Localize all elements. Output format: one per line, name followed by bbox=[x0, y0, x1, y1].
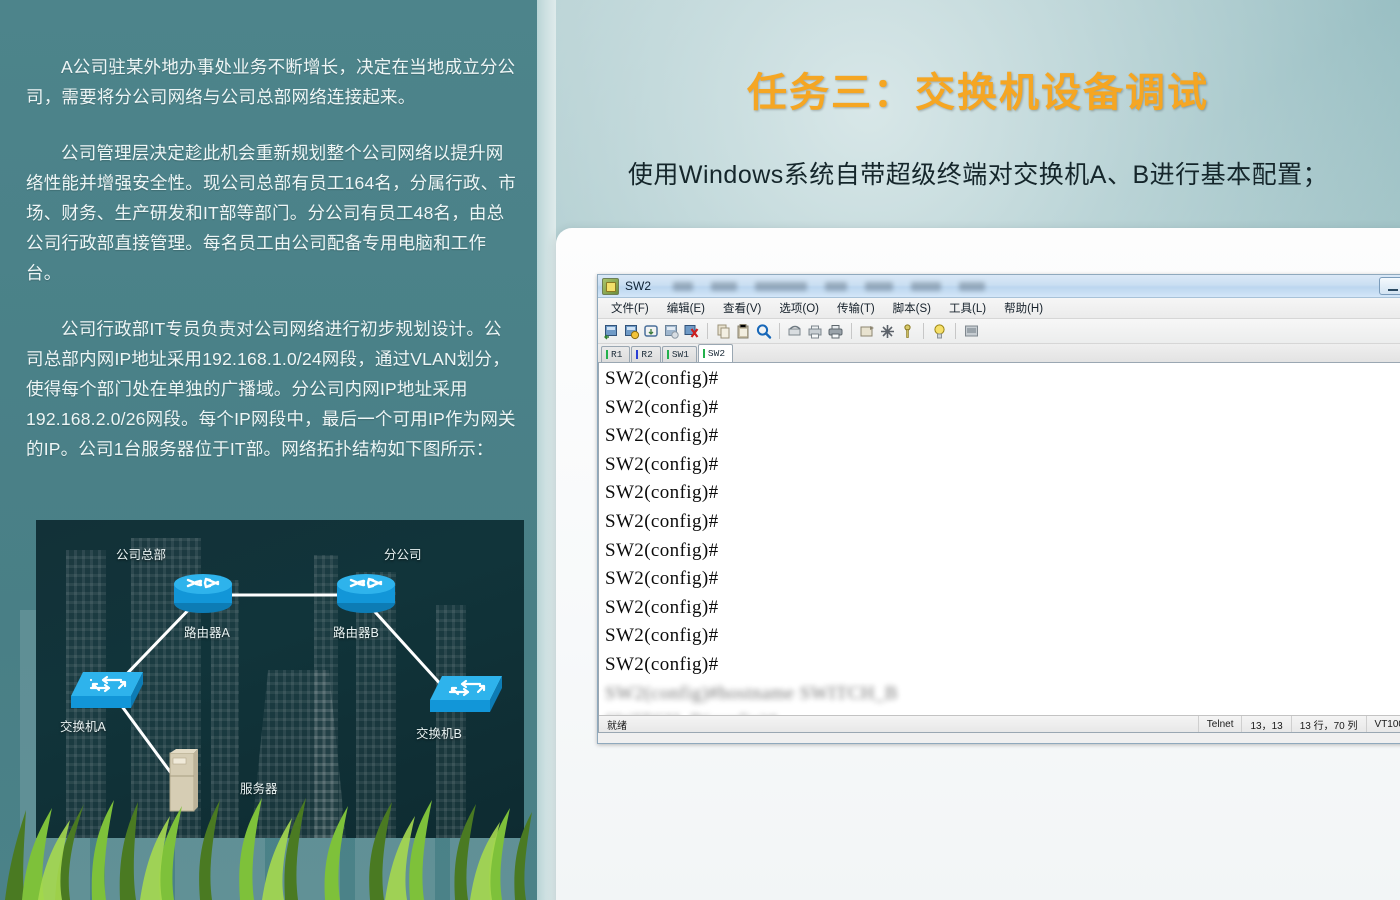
status-protocol: Telnet bbox=[1198, 716, 1242, 732]
server-icon bbox=[169, 748, 199, 812]
session-options-icon[interactable] bbox=[859, 323, 876, 340]
terminal-session-tabs[interactable]: R1 R2 SW1 SW2 bbox=[598, 344, 1400, 363]
terminal-title-blurred-text bbox=[673, 282, 1373, 291]
status-size: 13 行，70 列 bbox=[1291, 716, 1366, 732]
network-topology-diagram: 公司总部 分公司 路由器A bbox=[36, 520, 524, 838]
scenario-paragraph-2: 公司管理层决定趁此机会重新规划整个公司网络以提升网络性能并增强安全性。现公司总部… bbox=[26, 138, 519, 288]
menu-item-script[interactable]: 脚本(S) bbox=[884, 298, 940, 318]
router-icon bbox=[172, 570, 234, 616]
about-icon[interactable] bbox=[963, 323, 980, 340]
menu-item-tools[interactable]: 工具(L) bbox=[940, 298, 995, 318]
scenario-text-block: A公司驻某外地办事处业务不断增长，决定在当地成立分公司，需要将分公司网络与公司总… bbox=[0, 52, 537, 490]
diagram-node-server bbox=[169, 748, 199, 817]
terminal-status-bar: 就绪 Telnet 13，13 13 行，70 列 VT100 bbox=[599, 715, 1400, 732]
connect-in-tab-icon[interactable] bbox=[663, 323, 680, 340]
connect-sftp-icon[interactable] bbox=[623, 323, 640, 340]
menu-item-help[interactable]: 帮助(H) bbox=[995, 298, 1052, 318]
session-tab-label: SW1 bbox=[672, 349, 689, 360]
diagram-label-server: 服务器 bbox=[240, 778, 278, 797]
switch-icon bbox=[428, 672, 504, 716]
session-tab-r1[interactable]: R1 bbox=[601, 346, 630, 362]
disconnect-icon[interactable] bbox=[683, 323, 700, 340]
session-tab-label: R2 bbox=[641, 349, 652, 360]
help-icon[interactable] bbox=[931, 323, 948, 340]
status-cursor: 13，13 bbox=[1241, 716, 1290, 732]
terminal-line: SW2(config)# bbox=[605, 451, 1400, 480]
terminal-line: SW2(config)#hostname SWITCH_B bbox=[605, 680, 1400, 709]
diagram-label-switch-b: 交换机B bbox=[416, 723, 462, 742]
session-tab-label: R1 bbox=[611, 349, 622, 360]
securecrt-app-icon bbox=[602, 278, 619, 295]
print-setup-icon[interactable] bbox=[807, 323, 824, 340]
terminal-line: SW2(config)# bbox=[605, 422, 1400, 451]
session-tab-r2[interactable]: R2 bbox=[631, 346, 660, 362]
session-tab-sw1[interactable]: SW1 bbox=[662, 346, 697, 362]
paste-icon[interactable] bbox=[735, 323, 752, 340]
clone-session-icon[interactable] bbox=[643, 323, 660, 340]
session-tab-label: SW2 bbox=[708, 348, 725, 359]
window-controls[interactable] bbox=[1379, 277, 1400, 295]
global-options-icon[interactable] bbox=[879, 323, 896, 340]
terminal-output-area[interactable]: SW2(config)# SW2(config)# SW2(config)# S… bbox=[598, 363, 1400, 733]
menu-item-edit[interactable]: 编辑(E) bbox=[658, 298, 714, 318]
log-session-icon[interactable] bbox=[787, 323, 804, 340]
menu-item-options[interactable]: 选项(O) bbox=[770, 298, 828, 318]
status-emulation: VT100 bbox=[1366, 716, 1400, 732]
menu-item-transfer[interactable]: 传输(T) bbox=[828, 298, 884, 318]
menu-item-view[interactable]: 查看(V) bbox=[714, 298, 770, 318]
terminal-line: SW2(config)# bbox=[605, 594, 1400, 623]
minimize-button[interactable] bbox=[1379, 277, 1400, 295]
toolbar-separator bbox=[707, 323, 708, 339]
terminal-line: SW2(config)# bbox=[605, 394, 1400, 423]
slide-root: A公司驻某外地办事处业务不断增长，决定在当地成立分公司，需要将分公司网络与公司总… bbox=[0, 0, 1400, 900]
router-icon bbox=[335, 570, 397, 616]
terminal-line: SW2(config)# bbox=[605, 651, 1400, 680]
toolbar-separator bbox=[851, 323, 852, 339]
page-title: 任务三：交换机设备调试 bbox=[556, 60, 1400, 118]
terminal-title-text: SW2 bbox=[625, 279, 651, 293]
status-ready: 就绪 bbox=[599, 716, 635, 732]
diagram-label-switch-a: 交换机A bbox=[60, 716, 106, 735]
diagram-label-router-a: 路由器A bbox=[184, 622, 230, 641]
diagram-label-headquarters: 公司总部 bbox=[116, 544, 166, 563]
toolbar-separator bbox=[955, 323, 956, 339]
terminal-line: SW2(config)# bbox=[605, 537, 1400, 566]
toolbar-separator bbox=[779, 323, 780, 339]
terminal-window[interactable]: SW2 文件(F) 编辑(E) 查看(V) 选项(O) 传输(T) 脚本(S) … bbox=[597, 274, 1400, 744]
diagram-node-router-b bbox=[335, 570, 397, 621]
diagram-node-switch-b bbox=[428, 672, 504, 721]
toolbar-separator bbox=[923, 323, 924, 339]
new-session-icon[interactable] bbox=[603, 323, 620, 340]
diagram-label-branch: 分公司 bbox=[384, 544, 422, 563]
key-icon[interactable] bbox=[899, 323, 916, 340]
diagram-label-router-b: 路由器B bbox=[333, 622, 379, 641]
terminal-toolbar[interactable] bbox=[598, 319, 1400, 344]
switch-icon bbox=[69, 668, 145, 712]
diagram-node-switch-a bbox=[69, 668, 145, 717]
scenario-paragraph-3: 公司行政部IT专员负责对公司网络进行初步规划设计。公司总部内网IP地址采用192… bbox=[26, 314, 519, 464]
copy-icon[interactable] bbox=[715, 323, 732, 340]
terminal-line: SW2(config)# bbox=[605, 508, 1400, 537]
menu-item-file[interactable]: 文件(F) bbox=[602, 298, 658, 318]
left-text-panel: A公司驻某外地办事处业务不断增长，决定在当地成立分公司，需要将分公司网络与公司总… bbox=[0, 0, 537, 900]
panel-divider bbox=[537, 0, 556, 900]
scenario-paragraph-1: A公司驻某外地办事处业务不断增长，决定在当地成立分公司，需要将分公司网络与公司总… bbox=[26, 52, 519, 112]
terminal-title-bar[interactable]: SW2 bbox=[598, 275, 1400, 298]
page-subtitle: 使用Windows系统自带超级终端对交换机A、B进行基本配置； bbox=[556, 155, 1400, 191]
print-icon[interactable] bbox=[827, 323, 844, 340]
terminal-menu-bar[interactable]: 文件(F) 编辑(E) 查看(V) 选项(O) 传输(T) 脚本(S) 工具(L… bbox=[598, 298, 1400, 319]
terminal-line: SW2(config)# bbox=[605, 565, 1400, 594]
terminal-line: SW2(config)# bbox=[605, 365, 1400, 394]
terminal-line: SW2(config)# bbox=[605, 479, 1400, 508]
diagram-node-router-a bbox=[172, 570, 234, 621]
terminal-line: SW2(config)# bbox=[605, 622, 1400, 651]
find-icon[interactable] bbox=[755, 323, 772, 340]
session-tab-sw2[interactable]: SW2 bbox=[698, 344, 733, 362]
